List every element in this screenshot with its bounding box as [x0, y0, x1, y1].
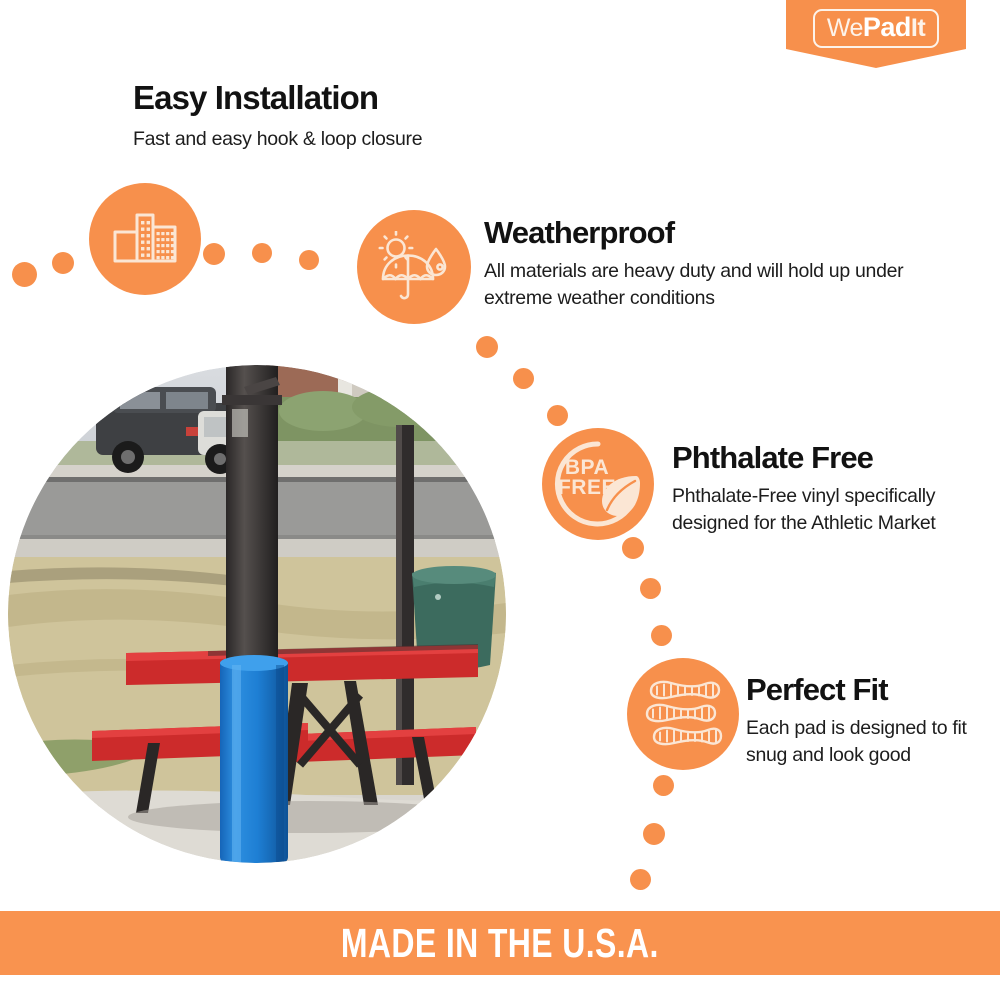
connector-dot: [513, 368, 534, 389]
connector-dot: [12, 262, 37, 287]
connector-dot: [653, 775, 674, 796]
bpa-line-2: FREE: [558, 476, 616, 499]
connector-dot: [52, 252, 74, 274]
infographic-canvas: We Pad It Easy Installation Fast and eas…: [0, 0, 1000, 987]
connector-dot: [651, 625, 672, 646]
connector-dot: [547, 405, 568, 426]
connector-dot: [299, 250, 319, 270]
logo-text-pad: Pad: [863, 14, 911, 41]
connector-dot: [630, 869, 651, 890]
feature-body-easy-installation: Fast and easy hook & loop closure: [133, 126, 422, 153]
building-icon: [112, 210, 178, 268]
umbrella-sun-raindrop-icon: [375, 231, 453, 303]
bpa-free-leaf-icon: BPA FREE: [552, 438, 644, 530]
feature-title-perfect-fit: Perfect Fit: [746, 672, 888, 708]
connector-dot: [476, 336, 498, 358]
made-in-usa-text: MADE IN THE U.S.A.: [341, 920, 659, 967]
feature-body-weatherproof: All materials are heavy duty and will ho…: [484, 258, 904, 312]
connector-dot: [643, 823, 665, 845]
feature-title-easy-installation: Easy Installation: [133, 79, 378, 117]
feature-icon-easy-installation: [89, 183, 201, 295]
measuring-tape-icon: [641, 675, 725, 753]
connector-dot: [640, 578, 661, 599]
connector-dot: [622, 537, 644, 559]
connector-dot: [203, 243, 225, 265]
product-photo: [8, 365, 506, 863]
logo-text-it: It: [911, 16, 925, 41]
feature-title-phthalate-free: Phthalate Free: [672, 440, 873, 476]
feature-icon-weatherproof: [357, 210, 471, 324]
feature-icon-perfect-fit: [627, 658, 739, 770]
feature-title-weatherproof: Weatherproof: [484, 215, 674, 251]
feature-icon-phthalate-free: BPA FREE: [542, 428, 654, 540]
bpa-free-icon-label: BPA FREE: [552, 458, 622, 498]
made-in-usa-banner: MADE IN THE U.S.A.: [0, 911, 1000, 975]
brand-logo: We Pad It: [786, 0, 966, 68]
logo-frame: We Pad It: [813, 9, 939, 48]
logo-text-we: We: [827, 16, 863, 41]
feature-body-phthalate-free: Phthalate-Free vinyl specifically design…: [672, 483, 942, 537]
feature-body-perfect-fit: Each pad is designed to fit snug and loo…: [746, 715, 976, 769]
connector-dot: [252, 243, 272, 263]
